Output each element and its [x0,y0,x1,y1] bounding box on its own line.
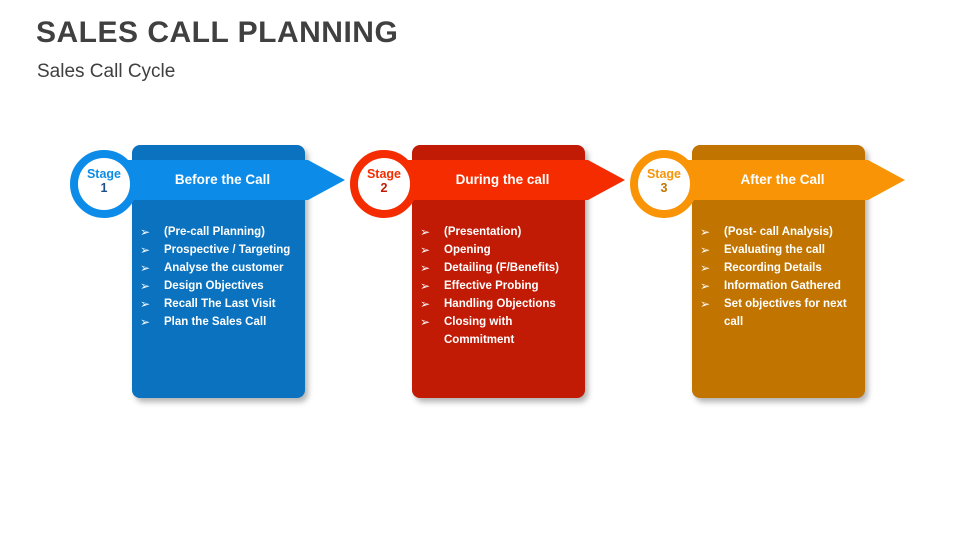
list-item: ➢Plan the Sales Call [136,313,304,331]
bullet-arrow-icon: ➢ [420,277,430,295]
list-item-label: (Presentation) [444,226,521,238]
bullet-arrow-icon: ➢ [700,223,710,241]
stage-number-3: 3 [638,181,690,196]
list-item-label: Information Gathered [724,280,841,292]
bullet-arrow-icon: ➢ [700,277,710,295]
bullet-arrow-icon: ➢ [700,295,710,313]
stage-block-3: After the Call Stage 3 ➢(Post- call Anal… [630,145,930,405]
stage-word-2: Stage [358,167,410,181]
list-item-label: Set objectives for next call [724,298,847,328]
list-item: ➢Design Objectives [136,277,304,295]
stage-word-3: Stage [638,167,690,181]
list-item-label: Handling Objections [444,298,556,310]
stage-bullet-list-3: ➢(Post- call Analysis) ➢Evaluating the c… [696,223,864,331]
bullet-arrow-icon: ➢ [700,259,710,277]
stage-number-1: 1 [78,181,130,196]
list-item-label: (Post- call Analysis) [724,226,833,238]
list-item: ➢Analyse the customer [136,259,304,277]
bullet-arrow-icon: ➢ [420,223,430,241]
list-item: ➢(Presentation) [416,223,584,241]
stage-heading-2: During the call [410,160,595,200]
stage-word-1: Stage [78,167,130,181]
bullet-arrow-icon: ➢ [140,223,150,241]
list-item: ➢Recall The Last Visit [136,295,304,313]
stage-heading-1: Before the Call [130,160,315,200]
stage-bullet-list-1: ➢(Pre-call Planning) ➢Prospective / Targ… [136,223,304,331]
page-title: SALES CALL PLANNING [36,16,398,50]
stage-badge-2[interactable]: Stage 2 [350,150,418,218]
bullet-arrow-icon: ➢ [140,313,150,331]
list-item-label: Recall The Last Visit [164,298,276,310]
list-item: ➢Recording Details [696,259,864,277]
stage-number-2: 2 [358,181,410,196]
list-item: ➢Opening [416,241,584,259]
list-item: ➢Detailing (F/Benefits) [416,259,584,277]
list-item: ➢(Post- call Analysis) [696,223,864,241]
list-item: ➢Prospective / Targeting [136,241,304,259]
list-item: ➢Set objectives for next call [696,295,864,331]
list-item-label: Evaluating the call [724,244,825,256]
list-item: ➢(Pre-call Planning) [136,223,304,241]
bullet-arrow-icon: ➢ [140,241,150,259]
stage-heading-3: After the Call [690,160,875,200]
list-item-label: Closing with Commitment [444,316,514,346]
bullet-arrow-icon: ➢ [420,241,430,259]
page-subtitle: Sales Call Cycle [37,61,175,83]
list-item-label: (Pre-call Planning) [164,226,265,238]
stage-badge-3[interactable]: Stage 3 [630,150,698,218]
stage-badge-1[interactable]: Stage 1 [70,150,138,218]
bullet-arrow-icon: ➢ [140,277,150,295]
list-item: ➢Information Gathered [696,277,864,295]
list-item-label: Design Objectives [164,280,264,292]
list-item: ➢Evaluating the call [696,241,864,259]
list-item: ➢Handling Objections [416,295,584,313]
list-item-label: Opening [444,244,491,256]
list-item-label: Prospective / Targeting [164,244,290,256]
bullet-arrow-icon: ➢ [420,313,430,331]
list-item-label: Detailing (F/Benefits) [444,262,559,274]
bullet-arrow-icon: ➢ [140,259,150,277]
stage-block-1: Before the Call Stage 1 ➢(Pre-call Plann… [70,145,370,405]
bullet-arrow-icon: ➢ [140,295,150,313]
bullet-arrow-icon: ➢ [420,295,430,313]
list-item: ➢Effective Probing [416,277,584,295]
list-item-label: Analyse the customer [164,262,284,274]
list-item-label: Recording Details [724,262,822,274]
list-item-label: Plan the Sales Call [164,316,266,328]
stage-bullet-list-2: ➢(Presentation) ➢Opening ➢Detailing (F/B… [416,223,584,349]
list-item: ➢Closing with Commitment [416,313,584,349]
bullet-arrow-icon: ➢ [700,241,710,259]
bullet-arrow-icon: ➢ [420,259,430,277]
stage-block-2: During the call Stage 2 ➢(Presentation) … [350,145,650,405]
list-item-label: Effective Probing [444,280,539,292]
